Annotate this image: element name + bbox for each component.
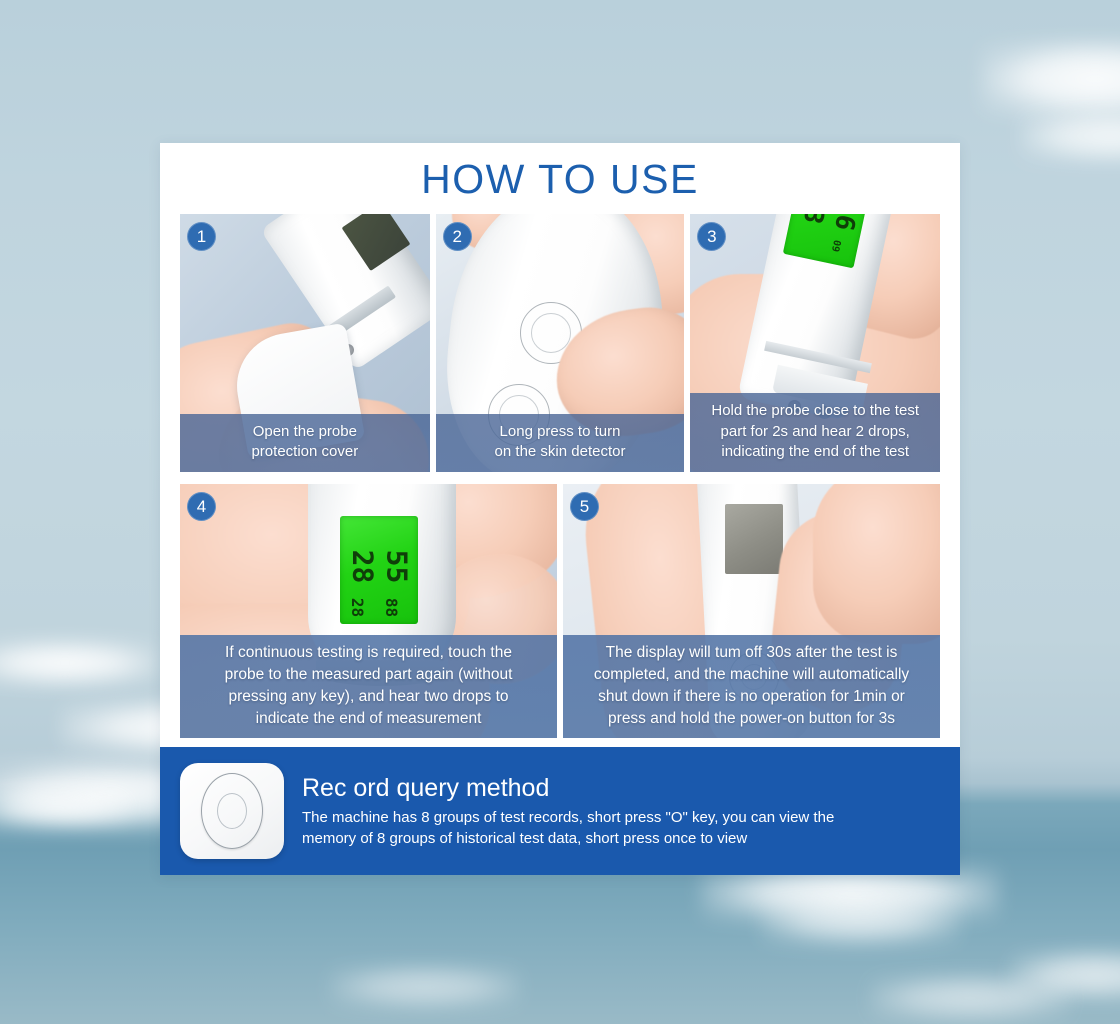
step-panel-4[interactable]: 28 55 28 88 4 If continuous testing is r… xyxy=(180,484,557,738)
step-number-badge: 2 xyxy=(443,222,472,251)
step-panel-1[interactable]: 1 Open the probe protection cover xyxy=(180,214,430,472)
lcd-value: 26 xyxy=(828,214,864,233)
cloud-shape xyxy=(760,900,960,946)
button-inner-ring xyxy=(217,793,247,829)
step-panel-3[interactable]: 43 26 09 3 Hold the probe close to the t… xyxy=(690,214,940,472)
lcd-screen-off xyxy=(725,504,783,574)
caption-line: Open the probe xyxy=(186,422,424,443)
footer-body-line: memory of 8 groups of historical test da… xyxy=(302,828,834,849)
cloud-shape xyxy=(330,965,520,1009)
caption-line: If continuous testing is required, touch… xyxy=(188,642,549,664)
lcd-screen: 28 55 28 88 xyxy=(340,516,418,624)
step-number-badge: 4 xyxy=(187,492,216,521)
record-button-icon xyxy=(180,763,284,859)
lcd-value: 28 xyxy=(348,598,367,617)
cloud-shape xyxy=(0,640,160,686)
caption-line: probe to the measured part again (withou… xyxy=(188,664,549,686)
caption-line: Hold the probe close to the test xyxy=(696,401,934,422)
lcd-value: 09 xyxy=(829,239,842,253)
footer-heading: Rec ord query method xyxy=(302,773,834,804)
step-2-caption: Long press to turn on the skin detector xyxy=(436,414,685,472)
step-4-caption: If continuous testing is required, touch… xyxy=(180,635,557,738)
page-title: HOW TO USE xyxy=(160,143,960,203)
lcd-value: 55 xyxy=(380,550,413,584)
cloud-shape xyxy=(870,975,1070,1021)
step-panel-5[interactable]: 5 The display will tum off 30s after the… xyxy=(563,484,940,738)
step-number-badge: 1 xyxy=(187,222,216,251)
instruction-card: HOW TO USE 1 Open the probe pro xyxy=(160,143,960,875)
caption-line: The display will tum off 30s after the t… xyxy=(571,642,932,664)
step-3-caption: Hold the probe close to the test part fo… xyxy=(690,393,940,472)
lcd-value: 28 xyxy=(346,550,379,584)
caption-line: Long press to turn xyxy=(442,422,679,443)
footer-body-line: The machine has 8 groups of test records… xyxy=(302,807,834,828)
cloud-shape xyxy=(1020,110,1120,162)
cloud-shape xyxy=(980,40,1120,118)
caption-line: shut down if there is no operation for 1… xyxy=(571,686,932,708)
step-number-badge: 5 xyxy=(570,492,599,521)
steps-row-2: 28 55 28 88 4 If continuous testing is r… xyxy=(160,484,960,738)
cloud-shape xyxy=(0,790,130,826)
caption-line: protection cover xyxy=(186,442,424,463)
lcd-value: 88 xyxy=(382,598,401,617)
caption-line: indicate the end of measurement xyxy=(188,708,549,730)
caption-line: press and hold the power-on button for 3… xyxy=(571,708,932,730)
steps-row-1: 1 Open the probe protection cover 2 xyxy=(160,214,960,472)
step-5-caption: The display will tum off 30s after the t… xyxy=(563,635,940,738)
cloud-shape xyxy=(1010,950,1120,1000)
caption-line: indicating the end of the test xyxy=(696,442,934,463)
footer-text-block: Rec ord query method The machine has 8 g… xyxy=(302,773,834,850)
caption-line: completed, and the machine will automati… xyxy=(571,664,932,686)
record-query-footer: Rec ord query method The machine has 8 g… xyxy=(160,747,960,875)
caption-line: part for 2s and hear 2 drops, xyxy=(696,422,934,443)
step-panel-2[interactable]: 2 Long press to turn on the skin detecto… xyxy=(436,214,685,472)
footer-body: The machine has 8 groups of test records… xyxy=(302,807,834,850)
caption-line: on the skin detector xyxy=(442,442,679,463)
step-1-caption: Open the probe protection cover xyxy=(180,414,430,472)
caption-line: pressing any key), and hear two drops to xyxy=(188,686,549,708)
